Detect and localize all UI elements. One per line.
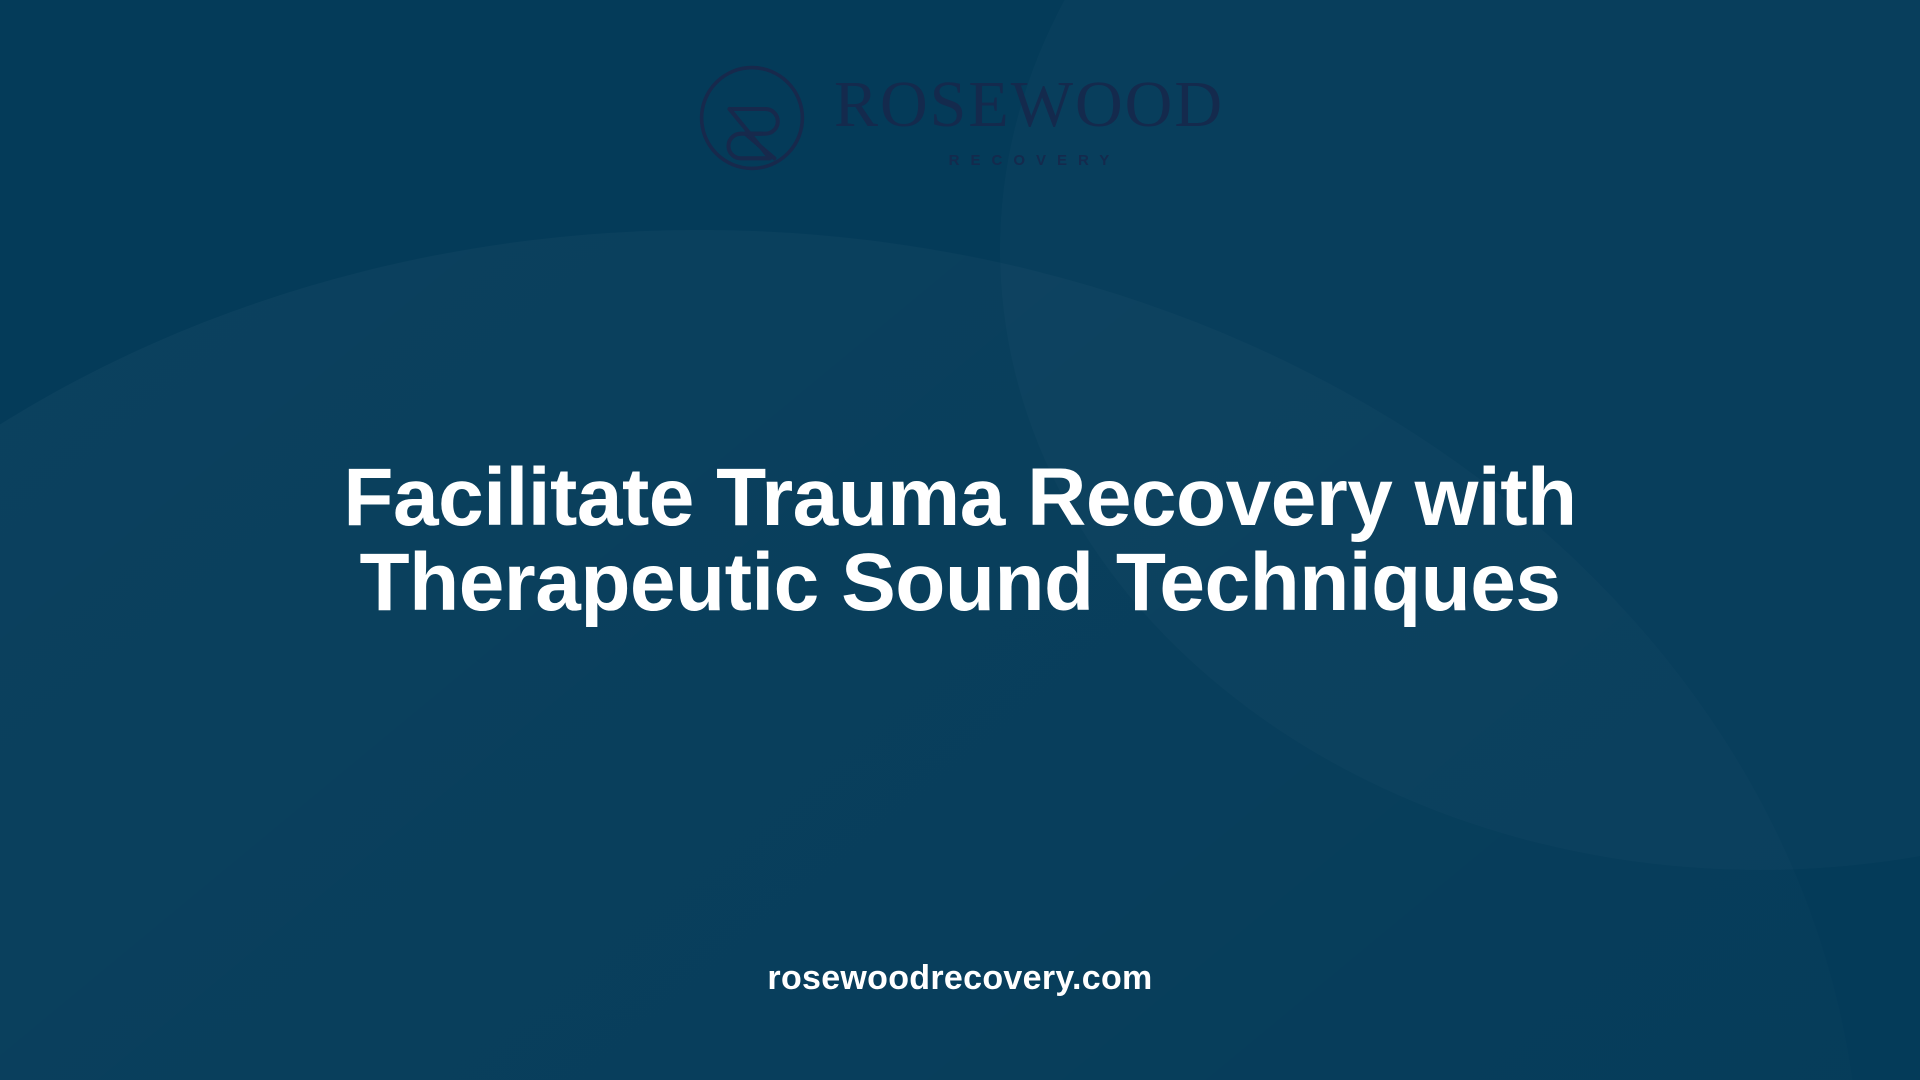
site-url[interactable]: rosewoodrecovery.com xyxy=(767,959,1152,998)
brand-subtitle: RECOVERY xyxy=(938,152,1121,169)
decor-ellipse-large xyxy=(0,230,1860,1080)
brand-wordmark-group: ROSEWOOD RECOVERY xyxy=(834,68,1224,169)
page-title: Facilitate Trauma Recovery with Therapeu… xyxy=(260,455,1660,626)
social-share-card: ROSEWOOD RECOVERY Facilitate Trauma Reco… xyxy=(0,0,1920,1080)
brand-logo-lockup[interactable]: ROSEWOOD RECOVERY xyxy=(696,62,1224,174)
brand-wordmark: ROSEWOOD xyxy=(834,72,1224,138)
rosewood-monogram-icon xyxy=(696,62,808,174)
